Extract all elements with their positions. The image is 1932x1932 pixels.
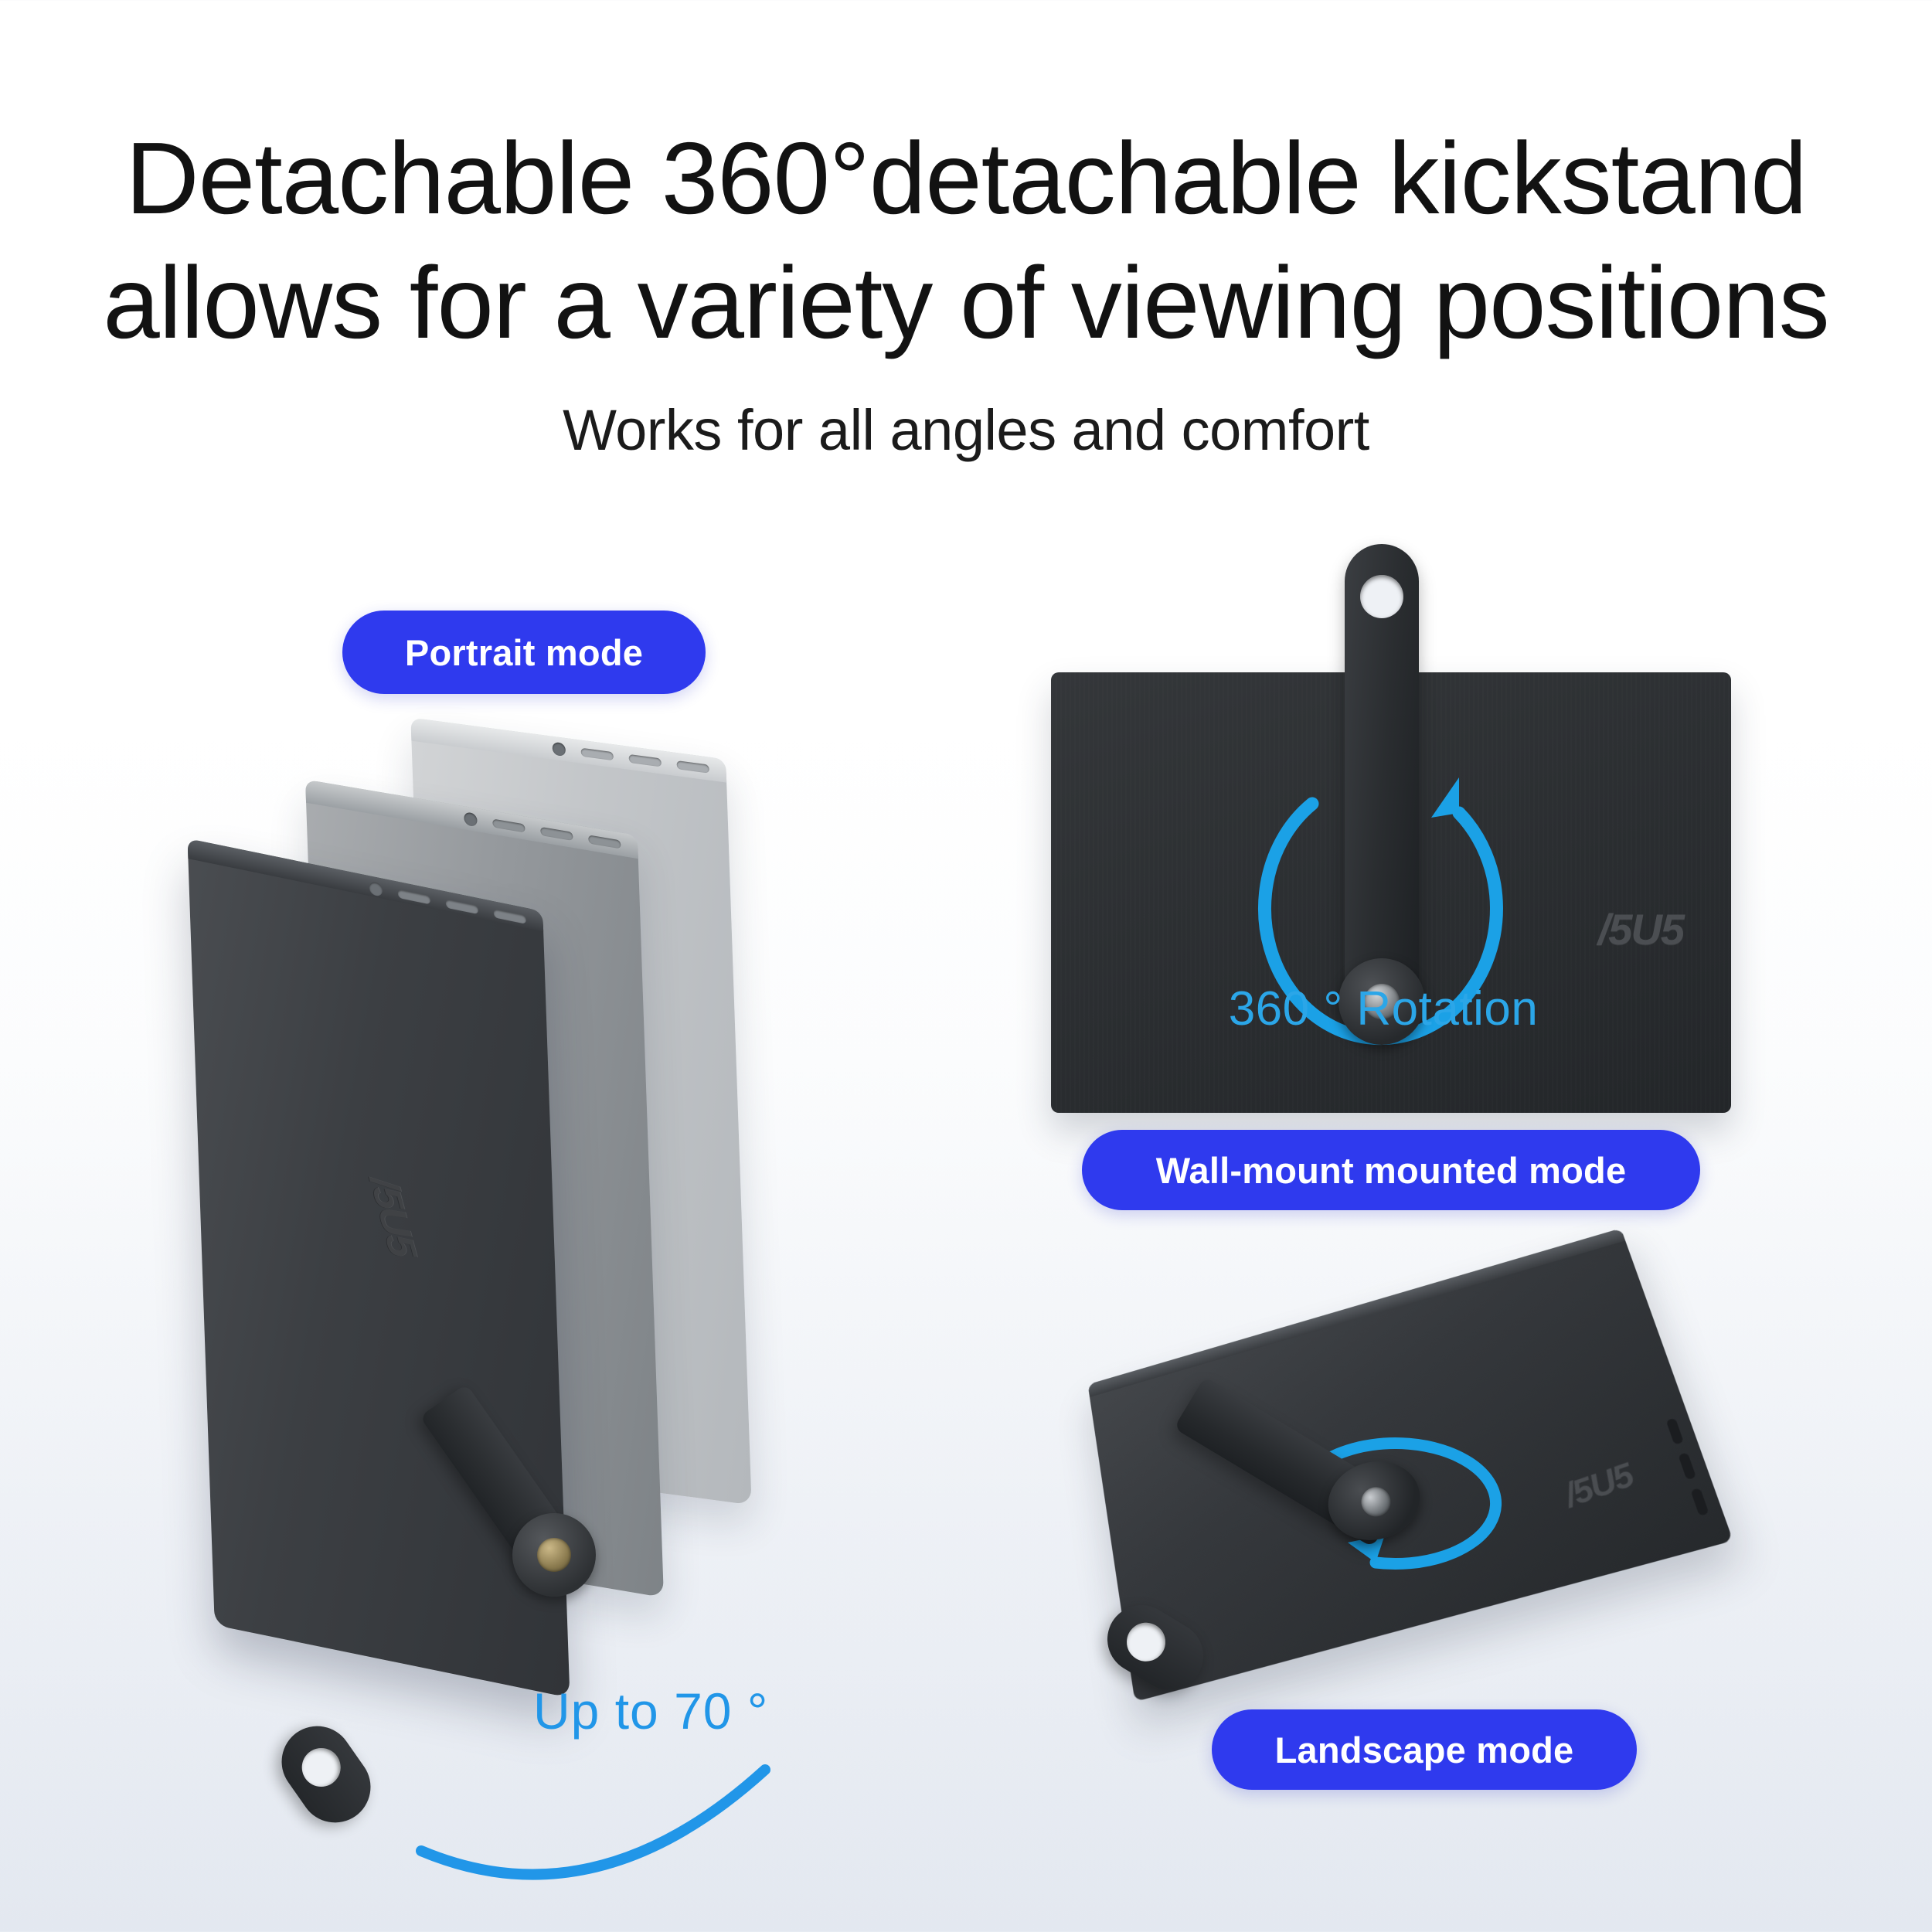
hdmi-port-icon [588,835,621,849]
badge-landscape-mode[interactable]: Landscape mode [1212,1709,1637,1790]
usb-c-port-icon [1666,1418,1684,1445]
badge-landscape-mode-label: Landscape mode [1275,1729,1574,1771]
product-illustration-stage: /5U5 Up to 70 ° /5U5 360 ° Rotation /5U5 [0,0,1932,1932]
audio-jack-icon [553,742,566,757]
kickstand-hinge-screw [512,1513,596,1597]
port-cluster [1666,1418,1709,1516]
hdmi-port-icon [1690,1488,1709,1516]
usb-c-port-icon [629,754,662,767]
tilt-angle-label: Up to 70 ° [533,1682,768,1740]
rotation-label: 360 ° Rotation [1036,981,1731,1036]
badge-portrait-mode-label: Portrait mode [405,631,643,674]
asus-logo-icon: /5U5 [1559,1457,1638,1515]
badge-wall-mount-mode-label: Wall-mount mounted mode [1156,1149,1627,1192]
panel-top-edge [1088,1228,1626,1397]
badge-wall-mount-mode[interactable]: Wall-mount mounted mode [1082,1130,1700,1210]
usb-c-port-icon [398,889,430,905]
usb-c-port-icon [1678,1452,1696,1480]
usb-c-port-icon [540,827,573,841]
panel-top-edge [410,717,726,782]
kickstand-arm-wall [1345,544,1419,1000]
wall-mount-illustration: /5U5 360 ° Rotation [1036,541,1731,1105]
hdmi-port-icon [494,909,526,924]
badge-portrait-mode[interactable]: Portrait mode [342,611,706,694]
asus-logo-icon: /5U5 [360,1176,426,1256]
usb-c-port-icon [581,748,614,761]
audio-jack-icon [464,811,478,827]
audio-jack-icon [369,881,383,897]
asus-logo-icon: /5U5 [1598,904,1683,954]
usb-c-port-icon [492,818,525,832]
port-cluster [553,742,709,776]
monitor-panel-front: /5U5 [188,838,570,1698]
hdmi-port-icon [677,760,709,774]
kickstand-arm-ring-end [267,1713,384,1837]
tilt-arc-icon [421,1770,765,1875]
usb-c-port-icon [446,899,478,914]
portrait-mode-illustration: /5U5 [178,726,966,1754]
landscape-mode-illustration: /5U5 [1082,1260,1777,1739]
